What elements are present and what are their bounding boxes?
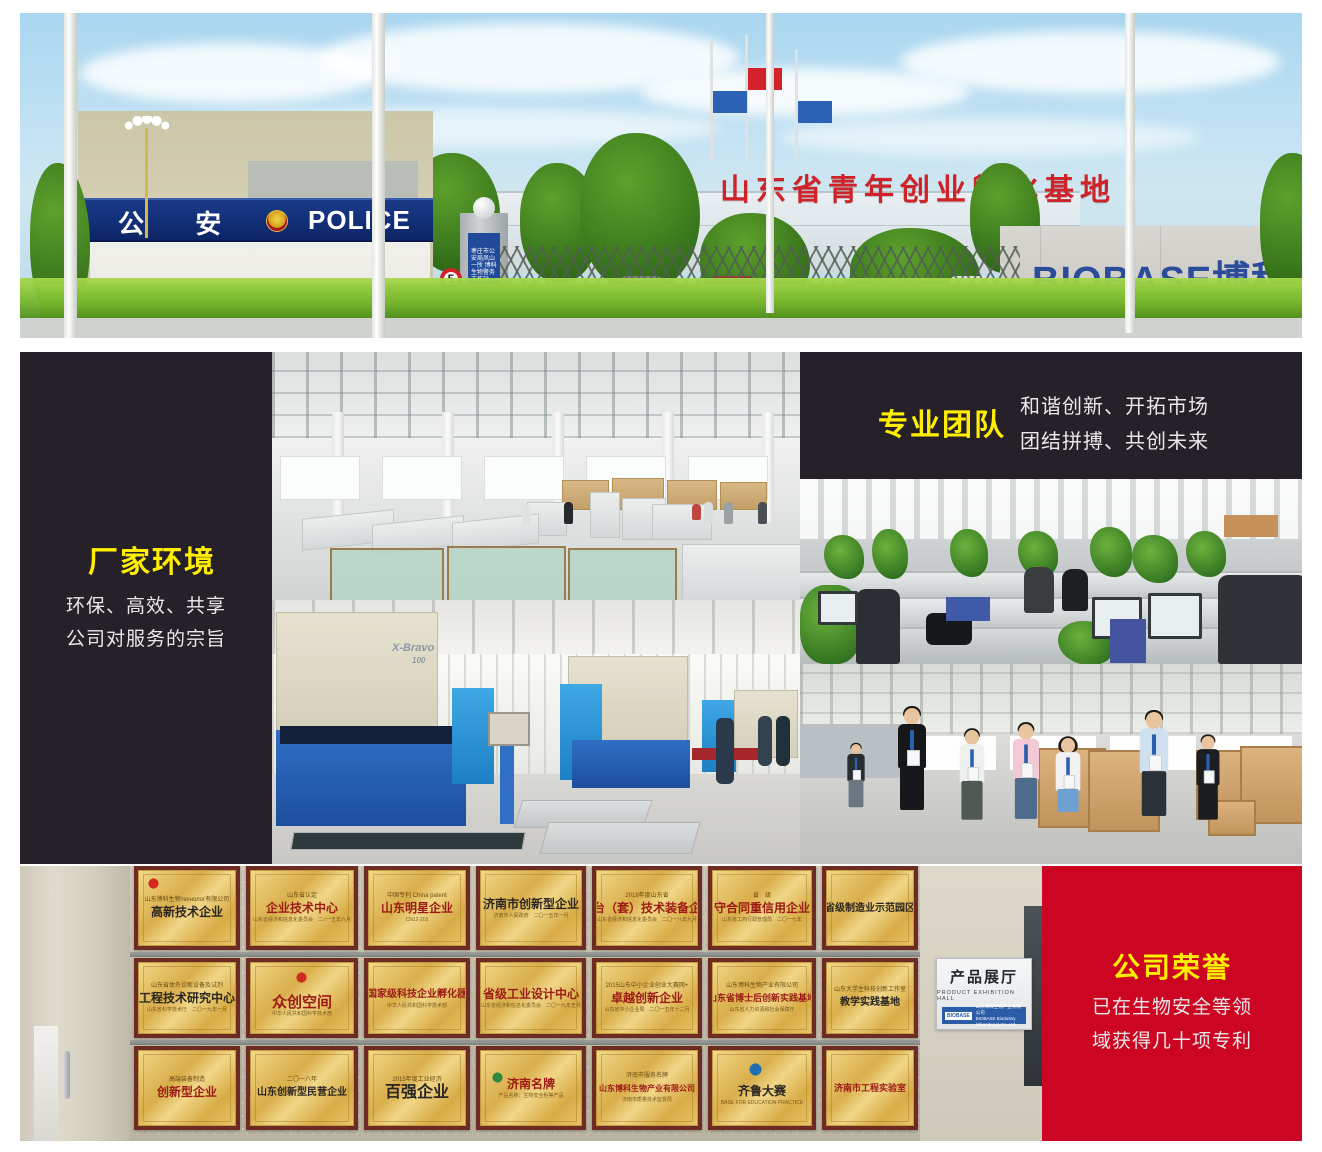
- company-name-en: BIOBASE Biodustry (Shandong) Co.,Ltd: [976, 1016, 1016, 1027]
- head: [965, 730, 979, 745]
- machine-model-label: 100: [412, 656, 425, 665]
- biobase-logo: BIOBASE: [945, 1012, 972, 1020]
- plaque-face: 2015山东中小企业创业大赛网+ 卓越创新企业 山东省中小企业局 二〇一五年十二…: [596, 962, 698, 1034]
- plaque-top-text: 山东省体外诊断设备及试剂: [151, 982, 223, 990]
- award-plaque: 省 级 守合同重信用企业 山东省工商行政管理局 二〇一七年: [708, 866, 816, 950]
- computer-monitor: [818, 591, 858, 625]
- factory-subtitle-line-1: 环保、高效、共享: [58, 590, 234, 623]
- award-plaque: 济南市工程实验室: [822, 1046, 918, 1130]
- professional-team-subtitle: 和谐创新、开拓市场 团结拼搏、共创未来: [1020, 390, 1209, 460]
- legs: [961, 781, 982, 820]
- id-badge: [1149, 755, 1162, 771]
- exhibition-hall-title-cn: 产品展厅: [950, 966, 1018, 987]
- company-flag-icon: [713, 91, 747, 113]
- road-strip: [20, 318, 1302, 338]
- worker-figure: [758, 502, 767, 524]
- head: [1019, 724, 1034, 740]
- legs: [1198, 784, 1218, 820]
- product-exhibition-hall-sign: 产品展厅 PRODUCT EXHIBITION HALL BIOBASE 山东博…: [936, 958, 1032, 1030]
- id-badge: [1064, 775, 1075, 789]
- factory-window: [382, 456, 462, 500]
- legs: [900, 766, 924, 810]
- plaque-main-text: 高新技术企业: [151, 905, 223, 920]
- police-sign-english: POLICE: [308, 205, 411, 236]
- factory-roof-structure: [272, 352, 800, 438]
- award-plaque: 济南名牌 产品名称：生物安全柜等产品: [476, 1046, 586, 1130]
- file-organizer: [946, 597, 990, 621]
- plaque-main-text: 工程技术研究中心: [139, 991, 235, 1006]
- plaque-bottom-text: 山东省经济和信息化委员会 二〇一九年五月: [481, 1003, 581, 1010]
- factory-environment-title: 厂家环境: [88, 537, 216, 581]
- open-plan-office-photo: [800, 479, 1302, 664]
- control-screen: [488, 712, 530, 746]
- incubator-sign-text: 山东省青年创业孵化基地: [720, 165, 1116, 209]
- head: [904, 708, 920, 725]
- monument-ball-ornament: [473, 197, 495, 219]
- flag-pole-front: [1125, 13, 1135, 333]
- id-badge: [968, 767, 979, 781]
- exhibition-hall-entrance: 产品展厅 PRODUCT EXHIBITION HALL BIOBASE 山东博…: [920, 866, 1042, 1141]
- door-handle: [64, 1051, 70, 1099]
- company-profile-page: 山东省青年创业孵化基地 BIOBASE博科 公 安 POLICE 枣庄市公安局凤…: [0, 0, 1322, 1152]
- flag-pole-front: [64, 13, 77, 338]
- exhibition-company-name: 山东博科生物产业有限公司 BIOBASE Biodustry (Shandong…: [976, 1004, 1023, 1028]
- head: [1061, 738, 1075, 753]
- computer-monitor: [1148, 593, 1202, 639]
- plaque-bottom-text: 济南市人民政府 二〇一五年一月: [493, 913, 568, 920]
- plaque-face: 济南市工程实验室: [826, 1050, 914, 1126]
- plaque-top-text: 济南市服务名牌: [626, 1072, 668, 1080]
- plaque-bottom-text: 山东省经济和信息化委员会 二○一五年六月: [253, 917, 351, 924]
- plaque-main-text: 创新型企业: [157, 1085, 217, 1100]
- exhibition-sign-brand-strip: BIOBASE 山东博科生物产业有限公司 BIOBASE Biodustry (…: [942, 1007, 1026, 1024]
- press-brake-tooling: [280, 726, 462, 744]
- plaque-main-text: 山东博科生物产业有限公司: [599, 1081, 695, 1096]
- lanyard: [910, 730, 914, 752]
- company-honor-subtitle: 已在生物安全等领 域获得几十项专利: [1068, 991, 1276, 1059]
- worker-figure: [522, 504, 531, 526]
- plaque-main-text: 山东省博士后创新实践基地: [712, 991, 812, 1006]
- plaque-main-text: 山东创新型民营企业: [257, 1085, 347, 1100]
- press-brake-workshop-photo: X-Bravo 100: [272, 600, 800, 864]
- plaque-bottom-text: BASE FOR EDUCATION PRACTICE: [721, 1100, 803, 1107]
- plaque-main-text: 济南市工程实验室: [834, 1081, 906, 1096]
- exhibition-hall-title-en: PRODUCT EXHIBITION HALL: [937, 990, 1031, 1002]
- worker-figure: [758, 716, 772, 766]
- award-plaque: 二〇一八年 山东创新型民营企业: [246, 1046, 358, 1130]
- company-name-cn: 山东博科生物产业有限公司: [976, 1004, 1021, 1015]
- award-plaque: 山东省体外诊断设备及试剂 工程技术研究中心 山东省科学技术厅 二〇一九年一月: [134, 958, 240, 1038]
- lanyard: [1066, 757, 1070, 776]
- legs: [849, 780, 864, 807]
- plaque-main-text: 卓越创新企业: [611, 991, 683, 1006]
- plaque-bottom-text: 山东省人力资源和社会保障厅: [729, 1007, 794, 1014]
- glass-panel-stack: [447, 546, 566, 600]
- plaque-main-text: 济南名牌: [507, 1077, 555, 1092]
- award-plaque: 2018年度山东省 首台（套）技术装备企业 山东省经济和信息化委员会 二〇一八年…: [592, 866, 702, 950]
- award-plaque: 山东省认定 企业技术中心 山东省经济和信息化委员会 二○一五年六月: [246, 866, 358, 950]
- assembly-hall-photo: [272, 352, 800, 600]
- office-worker: [1218, 575, 1302, 664]
- plaque-face: 山东省认定 企业技术中心 山东省经济和信息化委员会 二○一五年六月: [250, 870, 354, 946]
- plaque-face: 众创空间 中华人民共和国科学技术部: [250, 962, 354, 1034]
- plaque-shelf: [130, 1040, 920, 1045]
- plaque-face: 省级制造业示范园区: [826, 870, 914, 946]
- hedge-row: [20, 278, 1302, 320]
- award-plaque: 山东博科生物технолог有限公司 高新技术企业: [134, 866, 240, 950]
- plaque-face: 高端装备制造 创新型企业: [138, 1050, 236, 1126]
- plaque-face: 齐鲁大赛 BASE FOR EDUCATION PRACTICE: [712, 1050, 812, 1126]
- award-plaque: 2015山东中小企业创业大赛网+ 卓越创新企业 山东省中小企业局 二〇一五年十二…: [592, 958, 702, 1038]
- plaque-face: 济南名牌 产品名称：生物安全柜等产品: [480, 1050, 582, 1126]
- plaque-face: 山东博科生物технолог有限公司 高新技术企业: [138, 870, 236, 946]
- plaque-face: 省 级 守合同重信用企业 山东省工商行政管理局 二〇一七年: [712, 870, 812, 946]
- china-flag-icon: [748, 68, 782, 90]
- worker-figure: [564, 502, 573, 524]
- plaque-top-text: 2015年度工业经济: [392, 1076, 441, 1084]
- glass-door: [34, 1026, 58, 1141]
- plaque-bottom-text: 山东省中小企业局 二〇一五年十二月: [604, 1007, 689, 1014]
- plaque-face: 二〇一八年 山东创新型民营企业: [250, 1050, 354, 1126]
- office-worker: [1062, 569, 1088, 611]
- glass-panel-stack: [330, 548, 444, 600]
- worker-figure: [724, 502, 733, 524]
- award-plaque: 国家级科技企业孵化器 中华人民共和国科学技术部: [364, 958, 470, 1038]
- plaque-main-text: 齐鲁大赛: [738, 1084, 786, 1099]
- plaque-main-text: 国家级科技企业孵化器: [368, 987, 466, 1002]
- flag-pole-front: [766, 13, 774, 313]
- plaque-top-text: 山东博科生物产业有限公司: [726, 982, 798, 990]
- award-plaque: 济南市服务名牌 山东博科生物产业有限公司 济南市质量技术监督局: [592, 1046, 702, 1130]
- plaque-bottom-text: 中华人民共和国科学技术部: [387, 1003, 447, 1010]
- plaque-bottom-text: 中华人民共和国科学技术部: [272, 1011, 332, 1018]
- plaque-face: 省级工业设计中心 山东省经济和信息化委员会 二〇一九年五月: [480, 962, 582, 1034]
- plaque-top-text: 山东博科生物технолог有限公司: [145, 896, 230, 904]
- plaque-main-text: 教学实践基地: [840, 995, 900, 1010]
- team-subtitle-line-1: 和谐创新、开拓市场: [1020, 390, 1209, 425]
- plaque-top-text: 二〇一八年: [287, 1076, 317, 1084]
- factory-environment-caption-panel: 厂家环境 环保、高效、共享 公司对服务的宗旨: [20, 352, 272, 864]
- award-plaque-wall: 山东博科生物технолог有限公司 高新技术企业 山东省认定 企业技术中心 山…: [130, 866, 920, 1141]
- plaque-face: 山东大学生科技创新工作室 教学实践基地: [826, 962, 914, 1034]
- lamp-head-icon: [123, 116, 171, 132]
- worker-figure: [692, 504, 701, 520]
- machine-brand-label: X-Bravo: [392, 642, 434, 654]
- award-plaque: 济南市创新型企业 济南市人民政府 二〇一五年一月: [476, 866, 586, 950]
- plaque-main-text: 百强企业: [385, 1085, 449, 1100]
- plaque-main-text: 守合同重信用企业: [714, 901, 810, 916]
- honor-subtitle-line-1: 已在生物安全等领: [1068, 991, 1276, 1025]
- flag-pole-front: [372, 13, 385, 338]
- legs: [1015, 778, 1037, 819]
- company-honor-caption-panel: 公司荣誉 已在生物安全等领 域获得几十项专利: [1042, 866, 1302, 1141]
- factory-window: [484, 456, 564, 500]
- award-plaque: 2015年度工业经济 百强企业: [364, 1046, 470, 1130]
- middle-section: 厂家环境 环保、高效、共享 公司对服务的宗旨: [20, 352, 1302, 864]
- office-worker: [1024, 567, 1054, 613]
- plaque-face: 中国专利 China patent 山东明星企业 CN12-201: [368, 870, 466, 946]
- honor-subtitle-line-2: 域获得几十项专利: [1068, 1025, 1276, 1059]
- plaque-bottom-text: 山东省科学技术厅 二〇一九年一月: [147, 1007, 227, 1014]
- plaque-face: 济南市创新型企业 济南市人民政府 二〇一五年一月: [480, 870, 582, 946]
- plaque-main-text: 济南市创新型企业: [483, 897, 579, 912]
- award-plaque: 山东大学生科技创新工作室 教学实践基地: [822, 958, 918, 1038]
- company-honor-title: 公司荣誉: [1112, 946, 1232, 986]
- cloud-decoration: [900, 31, 1280, 93]
- plaque-bottom-text: 济南市质量技术监督局: [622, 1097, 672, 1104]
- plaque-main-text: 众创空间: [272, 995, 332, 1010]
- street-lamp: [145, 128, 148, 238]
- cabinet-unit: [682, 544, 800, 600]
- lanyard: [1152, 734, 1156, 756]
- worker-figure: [704, 502, 713, 524]
- honor-section: 山东博科生物технолог有限公司 高新技术企业 山东省认定 企业技术中心 山…: [20, 866, 1302, 1141]
- plaque-face: 济南市服务名牌 山东博科生物产业有限公司 济南市质量技术监督局: [596, 1050, 698, 1126]
- id-badge: [853, 770, 861, 780]
- police-sign-chinese: 公 安: [118, 204, 243, 241]
- file-holder: [1110, 619, 1146, 663]
- plaque-top-text: 2018年度山东省: [625, 892, 668, 900]
- id-badge: [1021, 763, 1033, 778]
- press-brake-frame: [276, 612, 438, 732]
- award-plaque: 省级制造业示范园区: [822, 866, 918, 950]
- cloud-decoration: [780, 118, 1200, 156]
- plaque-face: 2015年度工业经济 百强企业: [368, 1050, 466, 1126]
- award-plaque: 众创空间 中华人民共和国科学技术部: [246, 958, 358, 1038]
- press-brake-bed: [276, 730, 466, 826]
- plaque-face: 2018年度山东省 首台（套）技术装备企业 山东省经济和信息化委员会 二〇一八年…: [596, 870, 698, 946]
- professional-team-caption-panel: 专业团队 和谐创新、开拓市场 团结拼搏、共创未来: [800, 352, 1302, 479]
- plaque-top-text: 中国专利 China patent: [387, 892, 447, 900]
- wall-pillar-left: [20, 866, 130, 1141]
- plaque-top-text: 省 级: [753, 892, 771, 900]
- legs: [1057, 789, 1078, 812]
- plaque-bottom-text: 山东省经济和信息化委员会 二〇一八年九月: [597, 917, 697, 924]
- head: [1201, 736, 1214, 750]
- lanyard: [1024, 744, 1028, 764]
- banner-factory-gate-photo: 山东省青年创业孵化基地 BIOBASE博科 公 安 POLICE 枣庄市公安局凤…: [20, 13, 1302, 338]
- plaque-bottom-text: CN12-201: [406, 917, 429, 924]
- plaque-top-text: 2015山东中小企业创业大赛网+: [606, 982, 689, 990]
- plaque-main-text: 企业技术中心: [266, 901, 338, 916]
- factory-window: [280, 456, 360, 500]
- award-plaque: 省级工业设计中心 山东省经济和信息化委员会 二〇一九年五月: [476, 958, 586, 1038]
- cardboard-box: [1224, 515, 1278, 537]
- lanyard: [1206, 754, 1209, 772]
- award-plaque: 高端装备制造 创新型企业: [134, 1046, 240, 1130]
- plaque-main-text: 省级工业设计中心: [483, 987, 579, 1002]
- plaque-top-text: 山东大学生科技创新工作室: [834, 986, 906, 994]
- plaque-bottom-text: 山东省工商行政管理局 二〇一七年: [722, 917, 802, 924]
- award-logo-icon: [491, 1071, 504, 1084]
- legs: [1142, 771, 1166, 816]
- plaque-main-text: 省级制造业示范园区: [826, 901, 914, 916]
- award-plaque: 山东博科生物产业有限公司 山东省博士后创新实践基地 山东省人力资源和社会保障厅: [708, 958, 816, 1038]
- award-logo-icon: [147, 877, 160, 890]
- plaque-main-text: 山东明星企业: [381, 901, 453, 916]
- worker-figure: [776, 716, 790, 766]
- lanyard: [970, 749, 974, 768]
- award-plaque: 中国专利 China patent 山东明星企业 CN12-201: [364, 866, 470, 950]
- id-badge: [1204, 770, 1215, 783]
- office-worker: [856, 589, 900, 664]
- potted-plant: [950, 529, 988, 577]
- award-plaque: 齐鲁大赛 BASE FOR EDUCATION PRACTICE: [708, 1046, 816, 1130]
- sheet-metal-plate: [539, 822, 700, 854]
- plaque-bottom-text: 产品名称：生物安全柜等产品: [498, 1093, 563, 1100]
- worker-figure: [716, 718, 734, 784]
- award-logo-icon: [749, 1063, 762, 1076]
- id-badge: [907, 750, 920, 766]
- plaque-face: 国家级科技企业孵化器 中华人民共和国科学技术部: [368, 962, 466, 1034]
- plaque-shelf: [130, 952, 920, 957]
- team-subtitle-line-2: 团结拼搏、共创未来: [1020, 425, 1209, 460]
- plaque-top-text: 山东省认定: [287, 892, 317, 900]
- head: [1146, 712, 1162, 729]
- factory-subtitle-line-2: 公司对服务的宗旨: [58, 623, 234, 656]
- potted-plant: [1090, 527, 1132, 577]
- plaque-face: 山东博科生物产业有限公司 山东省博士后创新实践基地 山东省人力资源和社会保障厅: [712, 962, 812, 1034]
- cabinet-unit: [652, 504, 712, 540]
- plaque-main-text: 首台（套）技术装备企业: [596, 901, 698, 916]
- plaque-top-text: 高端装备制造: [169, 1076, 205, 1084]
- company-flag-icon: [798, 101, 832, 123]
- press-brake-bed: [572, 740, 690, 788]
- police-emblem-icon: [266, 210, 288, 232]
- team-walking-warehouse-photo: [800, 664, 1302, 864]
- cabinet-unit: [590, 492, 620, 538]
- award-logo-icon: [295, 971, 308, 984]
- plaque-face: 山东省体外诊断设备及试剂 工程技术研究中心 山东省科学技术厅 二〇一九年一月: [138, 962, 236, 1034]
- professional-team-title: 专业团队: [878, 400, 1006, 444]
- factory-environment-subtitle: 环保、高效、共享 公司对服务的宗旨: [58, 590, 234, 656]
- floor-rail: [290, 832, 525, 850]
- glass-panel-stack: [568, 548, 677, 600]
